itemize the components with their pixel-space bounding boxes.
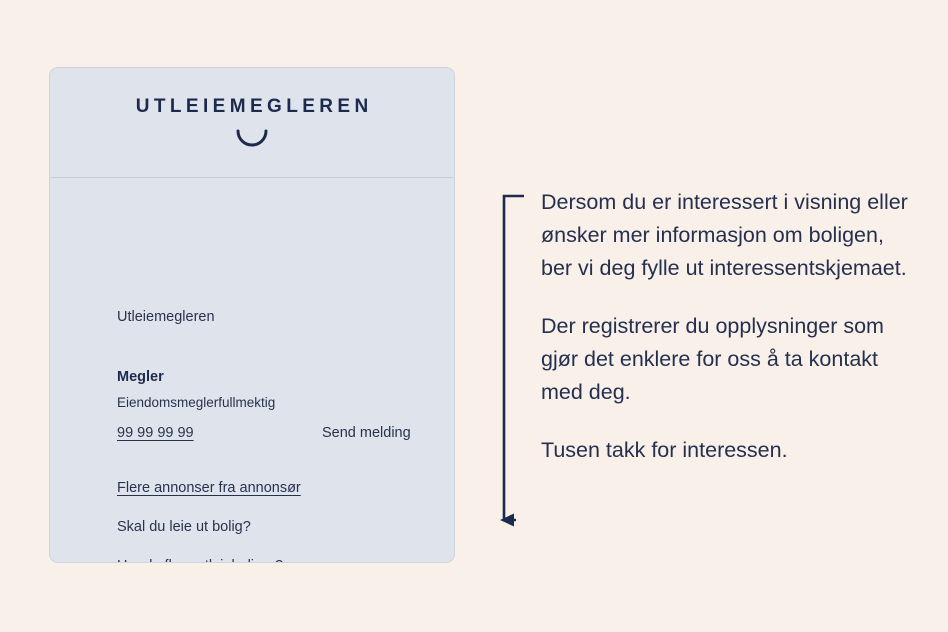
- rent-out-home-link[interactable]: Skal du leie ut bolig?: [117, 520, 251, 535]
- agent-contact-card: UTLEIEMEGLEREN Utleiemegleren Megler Eie…: [49, 67, 455, 563]
- annotation-paragraph-3: Tusen takk for interessen.: [541, 434, 911, 467]
- card-body: Utleiemegleren Megler Eiendomsmeglerfull…: [50, 178, 454, 562]
- send-message-link[interactable]: Send melding: [322, 426, 411, 441]
- agent-role-subtitle: Eiendomsmeglerfullmektig: [117, 396, 275, 410]
- annotation-text: Dersom du er interessert i visning eller…: [541, 186, 911, 467]
- multiple-rentals-link[interactable]: Har du flere utleieboliger?: [117, 559, 283, 563]
- brand-wordmark: UTLEIEMEGLEREN: [131, 97, 372, 116]
- annotation-paragraph-2: Der registrerer du opplysninger som gjør…: [541, 310, 911, 409]
- agency-name: Utleiemegleren: [117, 310, 215, 325]
- screen: UTLEIEMEGLEREN Utleiemegleren Megler Eie…: [0, 0, 948, 632]
- smile-arc-icon: [235, 129, 269, 149]
- arrow-left-icon: [500, 514, 514, 527]
- card-header: UTLEIEMEGLEREN: [50, 68, 454, 178]
- callout-leader-arrow: [498, 188, 530, 528]
- more-ads-link[interactable]: Flere annonser fra annonsør: [117, 481, 301, 496]
- annotation-paragraph-1: Dersom du er interessert i visning eller…: [541, 186, 911, 285]
- agent-role-title: Megler: [117, 370, 164, 385]
- phone-number-link[interactable]: 99 99 99 99: [117, 426, 194, 441]
